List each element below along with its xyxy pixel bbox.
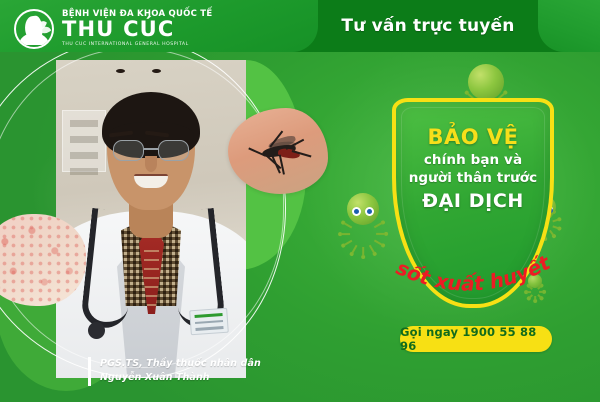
doctor-title: PGS.TS, Thầy thuốc nhân dân bbox=[100, 357, 261, 371]
id-badge bbox=[189, 308, 229, 336]
logo-subtitle: THU CUC INTERNATIONAL GENERAL HOSPITAL bbox=[62, 43, 212, 48]
mosquito-on-skin bbox=[228, 108, 328, 194]
logo[interactable]: BỆNH VIỆN ĐA KHOA QUỐC TẾ THU CÚC THU CU… bbox=[14, 7, 194, 51]
call-now-button[interactable]: Gọi ngay 1900 55 88 96 bbox=[400, 326, 552, 352]
shield-line-4: ĐẠI DỊCH bbox=[396, 189, 550, 214]
header-title: Tư vấn trực tuyến bbox=[318, 0, 538, 52]
shield-line-3: người thân trước bbox=[396, 170, 550, 188]
banner-root: Tư vấn trực tuyến BỆNH VIỆN ĐA KHOA QUỐC… bbox=[0, 0, 600, 402]
shield-line-2: chính bạn và bbox=[396, 152, 550, 170]
hospital-logo-face-icon bbox=[14, 9, 54, 49]
mosquito-icon bbox=[252, 130, 308, 170]
shield-panel: BẢO VỆ chính bạn và người thân trước ĐẠI… bbox=[352, 58, 592, 388]
doctor-caption: PGS.TS, Thầy thuốc nhân dân Nguyễn Xuân … bbox=[88, 357, 261, 386]
shield-headline: BẢO VỆ bbox=[396, 124, 550, 152]
logo-name: THU CÚC bbox=[62, 19, 212, 40]
call-now-label: Gọi ngay 1900 55 88 96 bbox=[400, 325, 552, 353]
virus-eyes bbox=[352, 207, 374, 216]
virus-icon bbox=[338, 184, 388, 234]
dengue-skin-rash bbox=[0, 214, 86, 306]
header-right-cap bbox=[538, 0, 600, 52]
doctor-name: Nguyễn Xuân Thành bbox=[100, 371, 261, 385]
doctor-photo-composition bbox=[6, 46, 306, 376]
